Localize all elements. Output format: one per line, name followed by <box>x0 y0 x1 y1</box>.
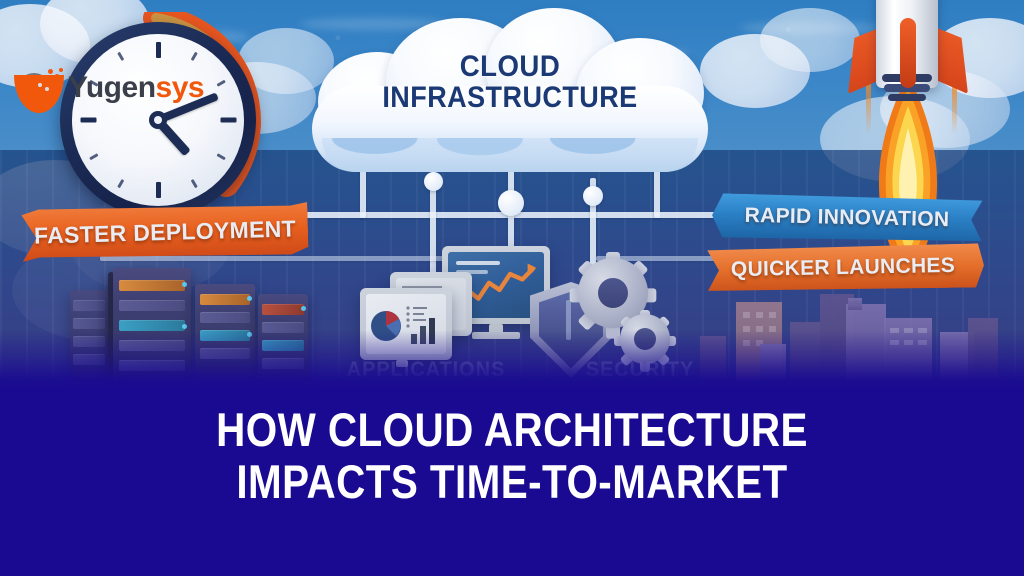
marketing-banner: CLOUD INFRASTRUCTURE <box>0 0 1024 576</box>
cloud-label-line2: INFRASTRUCTURE <box>321 83 699 114</box>
cloud-infrastructure-graphic: CLOUD INFRASTRUCTURE <box>300 8 720 176</box>
connector-node <box>498 190 524 216</box>
yugensys-mark-icon <box>14 63 66 113</box>
cloud-label: CLOUD INFRASTRUCTURE <box>300 52 720 113</box>
page-title-line2: IMPACTS TIME-TO-MARKET <box>72 456 953 508</box>
banner-faster-deployment: FASTER DEPLOYMENT <box>21 202 308 262</box>
logo-wordmark-part1: Yugen <box>68 71 156 104</box>
banner-quicker-launches: QUICKER LAUNCHES <box>702 243 985 292</box>
cloud-label-line1: CLOUD <box>317 52 703 83</box>
page-title-line1: HOW CLOUD ARCHITECTURE <box>72 404 953 456</box>
clock-icon <box>32 8 282 233</box>
brand-logo[interactable]: Yugensys <box>14 62 204 114</box>
banner-rapid-innovation: RAPID INNOVATION <box>712 193 983 243</box>
logo-wordmark-part2: sys <box>156 71 205 104</box>
title-band-fade <box>0 330 1024 390</box>
background-cloud <box>760 8 860 72</box>
logo-wordmark: Yugensys <box>68 71 204 105</box>
page-title: HOW CLOUD ARCHITECTURE IMPACTS TIME-TO-M… <box>0 404 1024 508</box>
connector-node <box>583 186 603 206</box>
